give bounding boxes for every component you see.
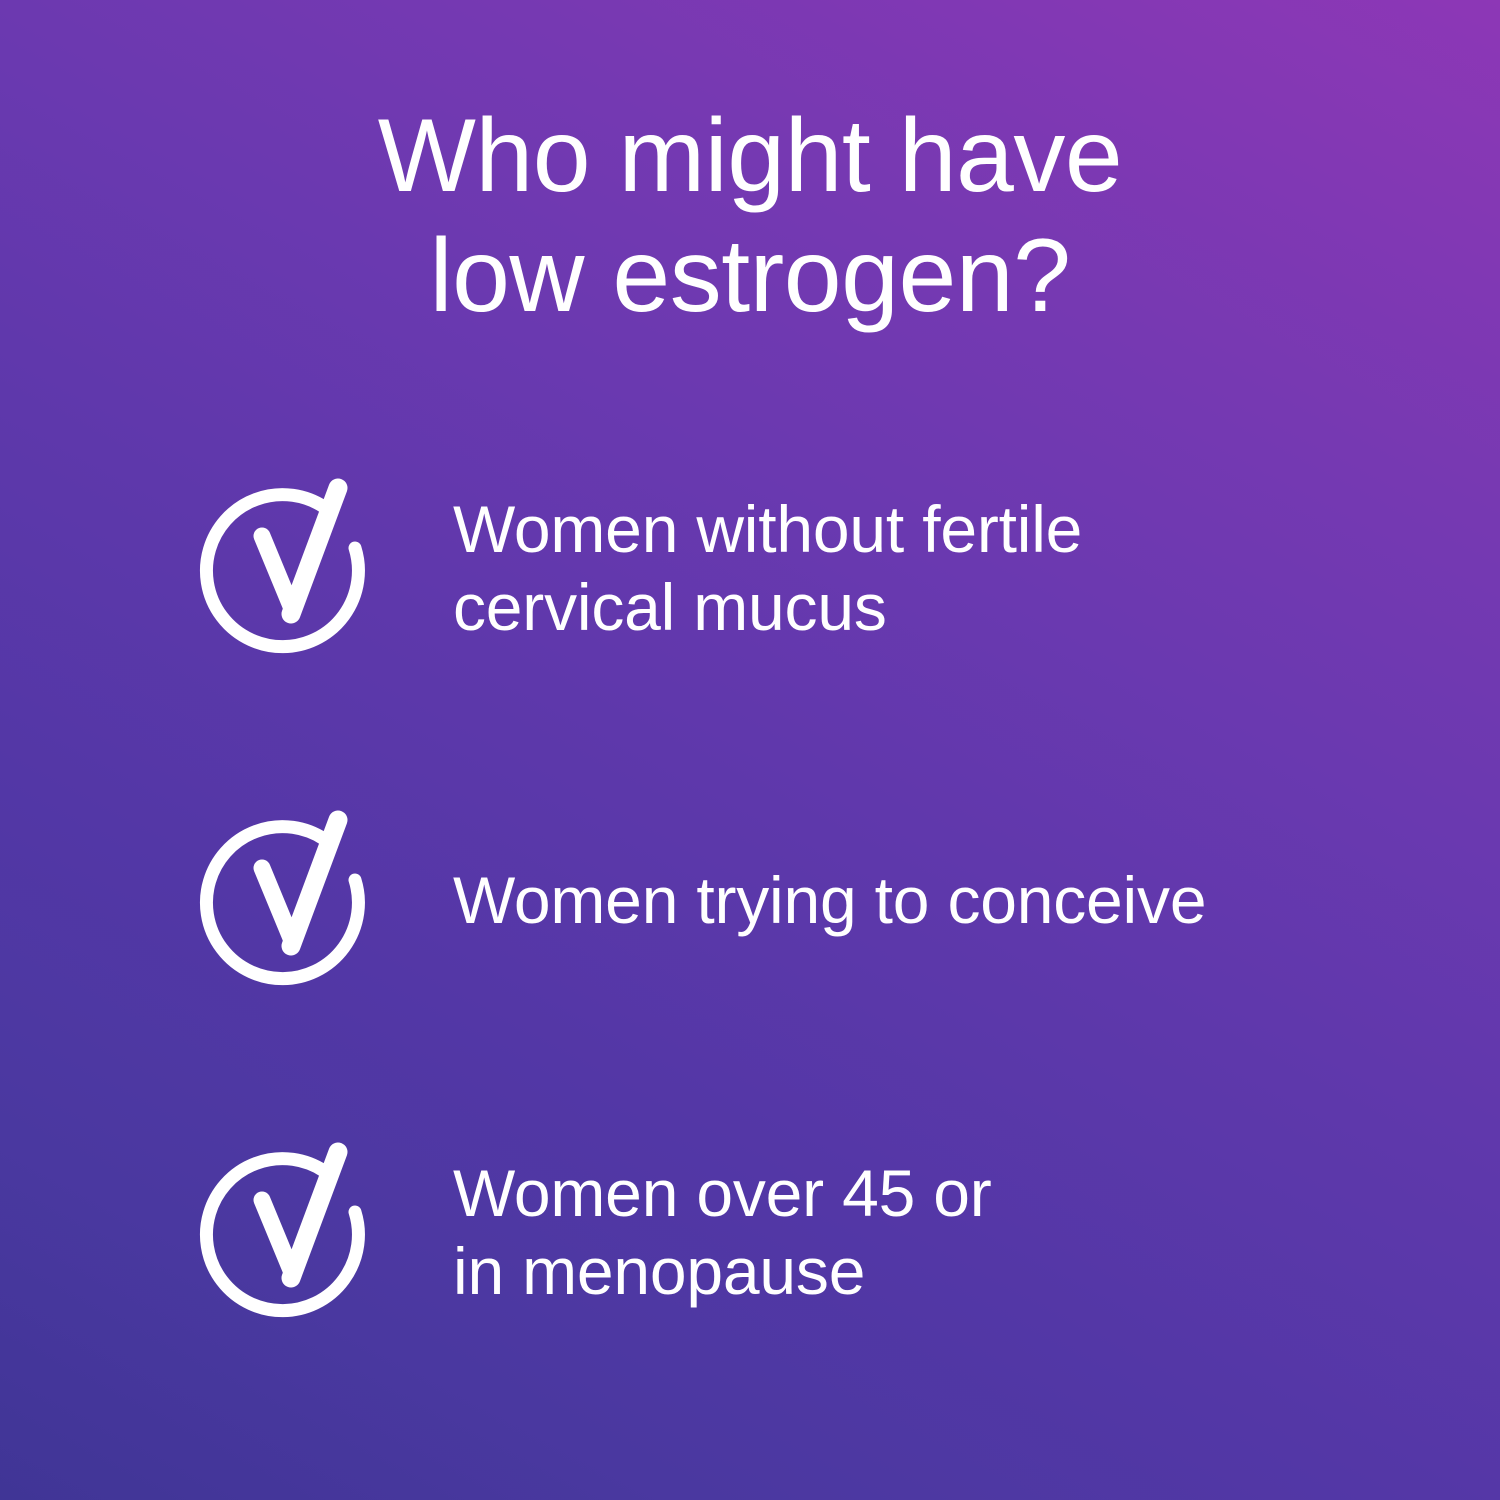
check-circle-icon bbox=[205, 810, 381, 990]
infographic-card: Who might have low estrogen? Women witho… bbox=[0, 0, 1500, 1500]
list-item: Women trying to conceive bbox=[205, 810, 1380, 990]
page-title: Who might have low estrogen? bbox=[60, 96, 1440, 336]
list-item: Women without fertile cervical mucus bbox=[205, 478, 1380, 658]
checklist: Women without fertile cervical mucus Wom… bbox=[205, 478, 1380, 1322]
check-circle-icon bbox=[205, 1142, 381, 1322]
list-item-label: Women trying to conceive bbox=[453, 861, 1380, 939]
title-block: Who might have low estrogen? bbox=[0, 96, 1500, 336]
check-circle-icon bbox=[205, 478, 381, 658]
list-item-label: Women without fertile cervical mucus bbox=[453, 490, 1380, 646]
list-item: Women over 45 or in menopause bbox=[205, 1142, 1380, 1322]
list-item-label: Women over 45 or in menopause bbox=[453, 1154, 1380, 1310]
